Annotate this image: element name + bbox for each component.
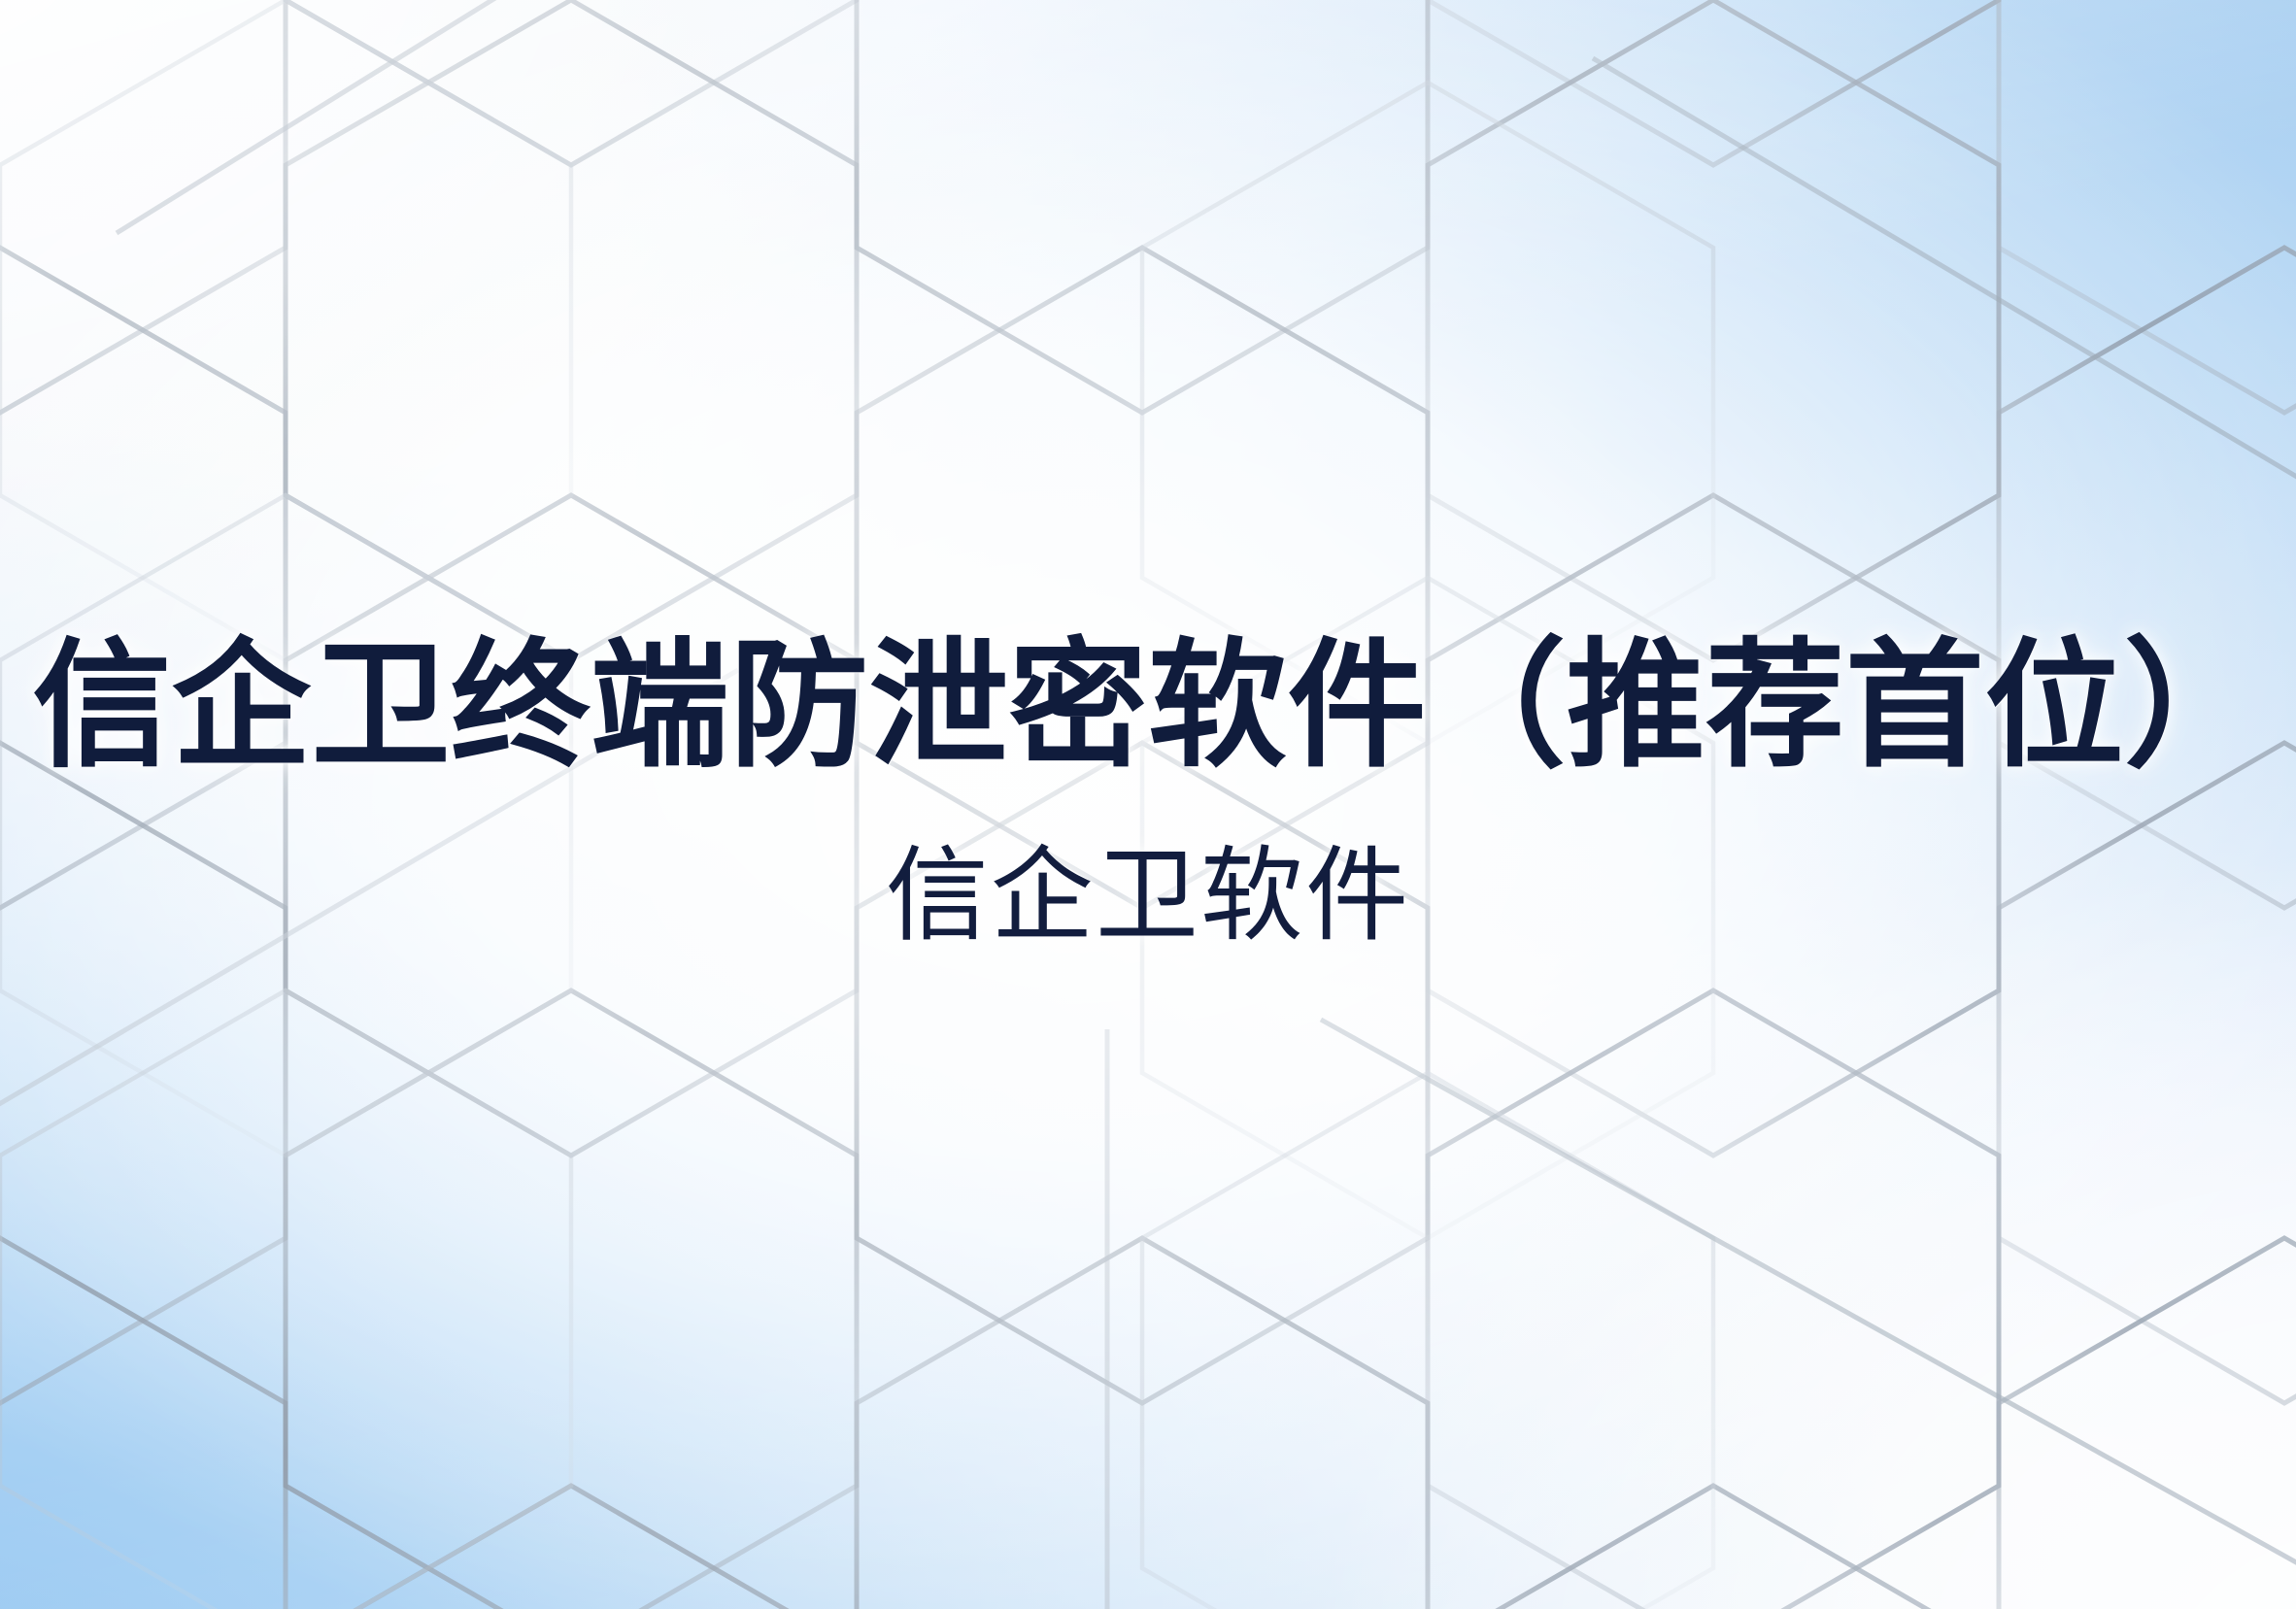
slide-text-block: 信企卫终端防泄密软件（推荐首位） 信企卫软件 <box>0 629 2296 958</box>
page-subtitle: 信企卫软件 <box>0 835 2296 958</box>
presentation-slide: 信企卫终端防泄密软件（推荐首位） 信企卫软件 <box>0 0 2296 1609</box>
page-title: 信企卫终端防泄密软件（推荐首位） <box>0 629 2296 785</box>
